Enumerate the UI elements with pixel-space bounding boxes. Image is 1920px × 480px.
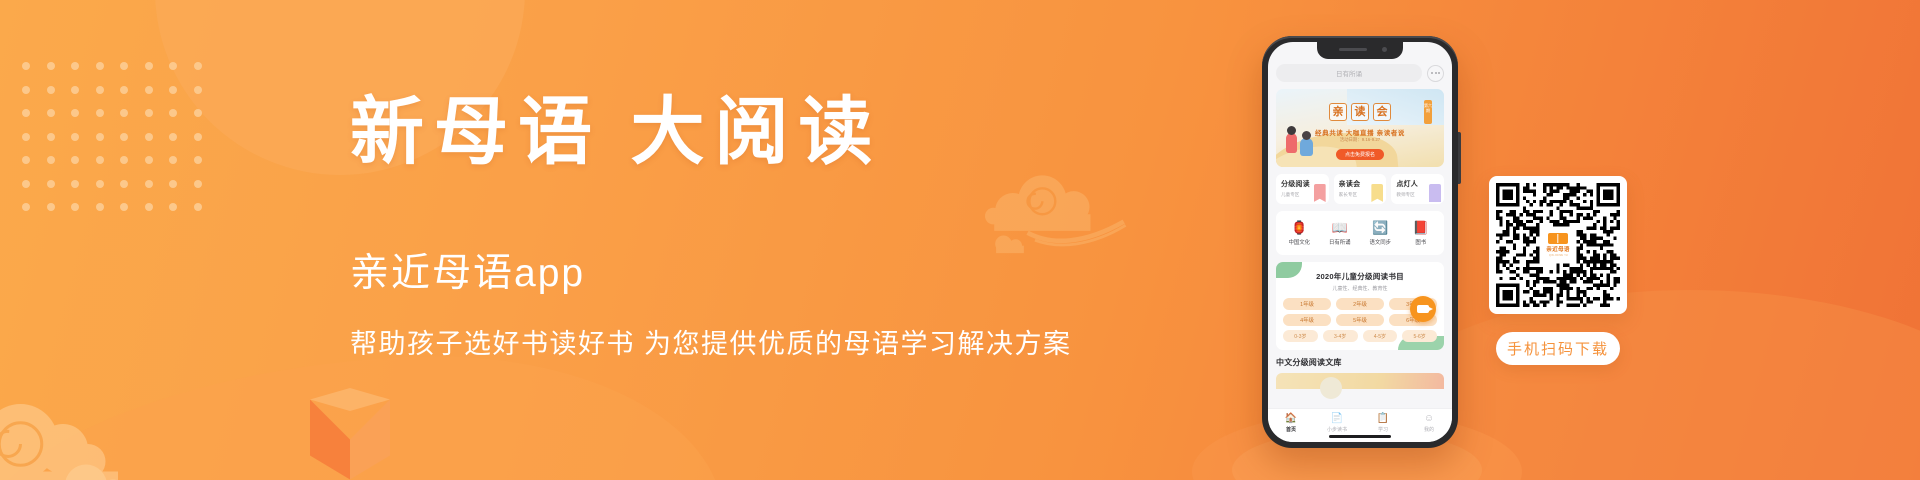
decor-isometric-cube	[310, 388, 390, 480]
hero-title-char: 会	[1373, 103, 1391, 121]
decor-dot	[47, 156, 55, 164]
decor-dot	[169, 109, 177, 117]
tab-label: 我的	[1424, 426, 1434, 433]
badge-icon	[1429, 184, 1441, 202]
phone-notch	[1317, 42, 1403, 59]
decor-dot	[96, 203, 104, 211]
decor-dot	[47, 180, 55, 188]
decor-dot	[145, 133, 153, 141]
decor-dot	[96, 133, 104, 141]
decor-dot	[22, 62, 30, 70]
entry-card[interactable]: 点灯人 教师专区	[1391, 174, 1444, 204]
search-input[interactable]: 日有所诵	[1276, 64, 1422, 82]
entry-card[interactable]: 分级阅读 儿童专区	[1276, 174, 1329, 204]
decor-dot	[47, 109, 55, 117]
grade-chip[interactable]: 2年级	[1336, 298, 1384, 310]
decor-dot	[145, 156, 153, 164]
library-title: 中文分级阅读文库	[1276, 357, 1444, 368]
decor-dot	[120, 133, 128, 141]
quick-icon-label: 图书	[1415, 238, 1426, 246]
hero-banner-title: 亲 读 会	[1329, 103, 1391, 121]
age-chip[interactable]: 3-4岁	[1323, 330, 1358, 342]
tagline-text: 帮助孩子选好书读好书 为您提供优质的母语学习解决方案	[350, 328, 1050, 362]
bookmark-icon	[1371, 184, 1383, 202]
decor-dot-grid	[22, 62, 218, 227]
video-play-icon[interactable]	[1410, 296, 1436, 322]
hero-copy-block: 新母语 大阅读 亲近母语app 帮助孩子选好书读好书 为您提供优质的母语学习解决…	[350, 96, 1050, 362]
decor-dot	[71, 109, 79, 117]
decor-dot	[96, 62, 104, 70]
decor-dot	[47, 62, 55, 70]
hero-banner-subtitle: 经典共读 大咖直播 亲读者说	[1315, 127, 1405, 137]
grade-chip[interactable]: 5年级	[1336, 314, 1384, 326]
decor-dot	[169, 86, 177, 94]
decor-dot	[169, 203, 177, 211]
tab-profile[interactable]: ☺ 我的	[1410, 413, 1448, 433]
quick-icon-item[interactable]: 🏮 中国文化	[1281, 221, 1317, 246]
brand-name: 亲近母语	[1546, 245, 1570, 253]
decor-dot	[194, 86, 202, 94]
decor-dot	[194, 156, 202, 164]
app-search-row: 日有所诵	[1276, 64, 1444, 82]
quick-icon-label: 语文同步	[1369, 238, 1391, 246]
auspicious-cloud-small-icon	[56, 454, 146, 480]
decor-dot	[194, 203, 202, 211]
hero-banner-cta-button[interactable]: 点击免费报名	[1336, 149, 1384, 160]
qr-card: 亲近母语 QIN JIN MU YU	[1489, 176, 1627, 314]
tab-label: 小步读书	[1327, 426, 1347, 433]
bookmark-icon	[1314, 184, 1326, 202]
decor-dot	[145, 109, 153, 117]
phone-mockup: 日有所诵 亲 读 会 第六期 经典共读 大咖直播 亲读者说 活动日期：9.16-…	[1262, 36, 1458, 448]
tab-label: 学习	[1378, 426, 1388, 433]
brand-logo: 亲近母语 QIN JIN MU YU	[1540, 227, 1576, 263]
entry-card[interactable]: 亲读会 家长专区	[1334, 174, 1387, 204]
grade-chip[interactable]: 1年级	[1283, 298, 1331, 310]
tab-label: 首页	[1286, 426, 1296, 433]
decor-dot	[120, 62, 128, 70]
lantern-icon: 🏮	[1291, 221, 1307, 235]
download-button[interactable]: 手机扫码下载	[1496, 332, 1620, 365]
decor-dot	[47, 203, 55, 211]
phone-screen: 日有所诵 亲 读 会 第六期 经典共读 大咖直播 亲读者说 活动日期：9.16-…	[1268, 42, 1452, 442]
decor-dot	[120, 109, 128, 117]
decor-dot	[120, 180, 128, 188]
decor-dot	[71, 62, 79, 70]
decor-dot	[71, 203, 79, 211]
book-open-icon: 📖	[1332, 221, 1348, 235]
age-chip[interactable]: 0-3岁	[1283, 330, 1318, 342]
quick-icon-item[interactable]: 📕 图书	[1403, 221, 1439, 246]
decor-dot	[145, 203, 153, 211]
tab-reading[interactable]: 📄 小步读书	[1318, 413, 1356, 433]
checklist-icon: 📋	[1377, 413, 1389, 424]
decor-dot	[96, 86, 104, 94]
entry-card-row: 分级阅读 儿童专区 亲读会 家长专区 点灯人 教师专区	[1276, 174, 1444, 204]
decor-dot	[22, 86, 30, 94]
document-icon: 📄	[1331, 413, 1343, 424]
decor-dot	[22, 133, 30, 141]
ellipsis-icon[interactable]	[1427, 65, 1444, 82]
hero-banner-date: 活动日期：9.16-9.27	[1340, 137, 1381, 143]
user-icon: ☺	[1424, 413, 1434, 424]
decor-dot	[71, 156, 79, 164]
tab-home[interactable]: 🏠 首页	[1272, 413, 1310, 433]
promo-banner: 新母语 大阅读 亲近母语app 帮助孩子选好书读好书 为您提供优质的母语学习解决…	[0, 0, 1920, 480]
page-title: 新母语 大阅读	[350, 96, 1050, 170]
decor-dot	[47, 133, 55, 141]
decor-dot	[169, 156, 177, 164]
quick-icon-label: 日有所诵	[1329, 238, 1351, 246]
library-cover[interactable]	[1276, 373, 1444, 389]
decor-dot	[145, 180, 153, 188]
qr-code[interactable]: 亲近母语 QIN JIN MU YU	[1496, 183, 1620, 307]
quick-icon-label: 中国文化	[1288, 238, 1310, 246]
decor-dot	[96, 156, 104, 164]
decor-dot	[194, 109, 202, 117]
quick-icon-item[interactable]: 📖 日有所诵	[1322, 221, 1358, 246]
booklist-title: 2020年儿童分级阅读书目	[1283, 271, 1437, 282]
decor-dot	[22, 156, 30, 164]
quick-icon-item[interactable]: 🔄 语文同步	[1362, 221, 1398, 246]
decor-dot	[169, 62, 177, 70]
decor-dot	[145, 86, 153, 94]
decor-dot	[96, 180, 104, 188]
decor-dot	[22, 203, 30, 211]
sync-icon: 🔄	[1372, 221, 1388, 235]
books-icon: 📕	[1413, 221, 1429, 235]
library-section: 中文分级阅读文库	[1276, 357, 1444, 389]
decor-dot	[194, 180, 202, 188]
decor-dot	[22, 180, 30, 188]
decor-dot	[71, 133, 79, 141]
brand-name-en: QIN JIN MU YU	[1549, 254, 1568, 257]
app-hero-banner[interactable]: 亲 读 会 第六期 经典共读 大咖直播 亲读者说 活动日期：9.16-9.27 …	[1276, 89, 1444, 167]
decor-dot	[194, 62, 202, 70]
qr-download-block: 亲近母语 QIN JIN MU YU 手机扫码下载	[1489, 176, 1627, 365]
tab-study[interactable]: 📋 学习	[1364, 413, 1402, 433]
home-indicator	[1329, 435, 1391, 438]
decor-dot	[169, 180, 177, 188]
decor-dot	[194, 133, 202, 141]
grade-chip[interactable]: 4年级	[1283, 314, 1331, 326]
decor-dot	[169, 133, 177, 141]
book-icon	[1548, 233, 1568, 244]
app-name-label: 亲近母语app	[350, 254, 1050, 293]
booklist-subtitle: 儿童性、经典性、教育性	[1283, 285, 1437, 292]
decor-dot	[120, 156, 128, 164]
decor-dot	[120, 203, 128, 211]
decor-dot	[71, 86, 79, 94]
home-icon: 🏠	[1285, 413, 1297, 424]
decor-dot	[22, 109, 30, 117]
hero-title-char: 亲	[1329, 103, 1347, 121]
decor-dot	[71, 180, 79, 188]
decor-dot	[96, 109, 104, 117]
decor-dot	[120, 86, 128, 94]
decor-dot	[145, 62, 153, 70]
quick-icon-row: 🏮 中国文化 📖 日有所诵 🔄 语文同步 📕 图书	[1276, 211, 1444, 255]
age-chip[interactable]: 5-6岁	[1402, 330, 1437, 342]
age-chip[interactable]: 4-5岁	[1363, 330, 1398, 342]
hero-banner-badge: 第六期	[1424, 100, 1432, 124]
decor-dot	[47, 86, 55, 94]
hero-title-char: 读	[1351, 103, 1369, 121]
booklist-card: 2020年儿童分级阅读书目 儿童性、经典性、教育性 1年级 2年级 3年级 4年…	[1276, 262, 1444, 350]
